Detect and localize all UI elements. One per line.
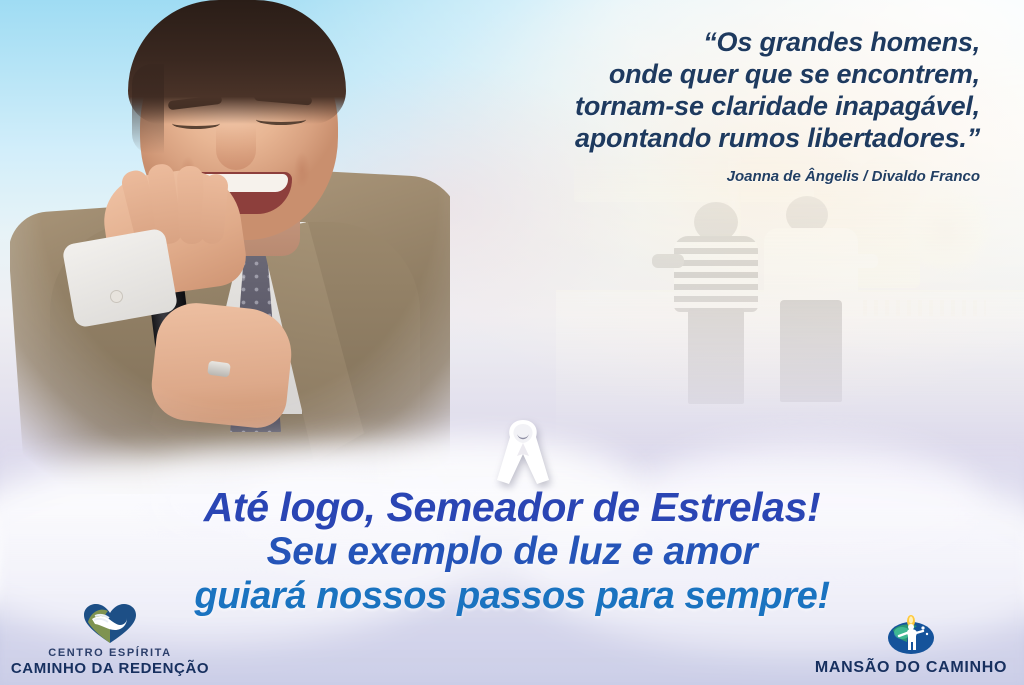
hair-sideburn: [132, 64, 164, 154]
globe-figure-flame-icon: [806, 614, 1016, 656]
background-palm: [886, 170, 1006, 290]
headline-line-2: Seu exemplo de luz e amor: [0, 530, 1024, 574]
logo-mansao-do-caminho: MANSÃO DO CAMINHO: [806, 614, 1016, 677]
person-arm: [652, 254, 684, 268]
smile-crease-right: [294, 152, 310, 188]
quote-line-3: tornam-se claridade inapagável,: [420, 90, 980, 122]
background-photo-two-people-walking: [556, 150, 1024, 450]
logo-left-line-1: CENTRO ESPÍRITA: [6, 647, 214, 659]
quote-line-1: “Os grandes homens,: [420, 26, 980, 58]
logo-left-line-2: CAMINHO DA REDENÇÃO: [6, 660, 214, 677]
person-torso: [674, 236, 758, 312]
quote-line-4: apontando rumos libertadores.”: [420, 122, 980, 154]
headline-block: Até logo, Semeador de Estrelas! Seu exem…: [0, 484, 1024, 618]
quote-block: “Os grandes homens, onde quer que se enc…: [420, 26, 980, 185]
quote-line-2: onde quer que se encontrem,: [420, 58, 980, 90]
nose: [216, 126, 256, 170]
person-legs: [780, 300, 842, 402]
quote-attribution: Joanna de Ângelis / Divaldo Franco: [420, 168, 980, 185]
shirt-cuff: [61, 228, 178, 329]
logo-right-line-1: MANSÃO DO CAMINHO: [806, 659, 1016, 677]
headline-line-1: Até logo, Semeador de Estrelas!: [0, 484, 1024, 530]
logo-centro-espirita: CENTRO ESPÍRITA CAMINHO DA REDENÇÃO: [6, 603, 214, 677]
heart-hands-icon: [6, 603, 214, 645]
person-arm: [852, 254, 878, 268]
person-torso: [764, 228, 858, 304]
ring: [207, 361, 231, 378]
cuff-button: [110, 290, 123, 303]
portrait-photo: [10, 0, 450, 494]
memorial-poster: “Os grandes homens, onde quer que se enc…: [0, 0, 1024, 685]
person-legs: [688, 308, 744, 404]
white-ribbon-icon: [487, 410, 559, 488]
